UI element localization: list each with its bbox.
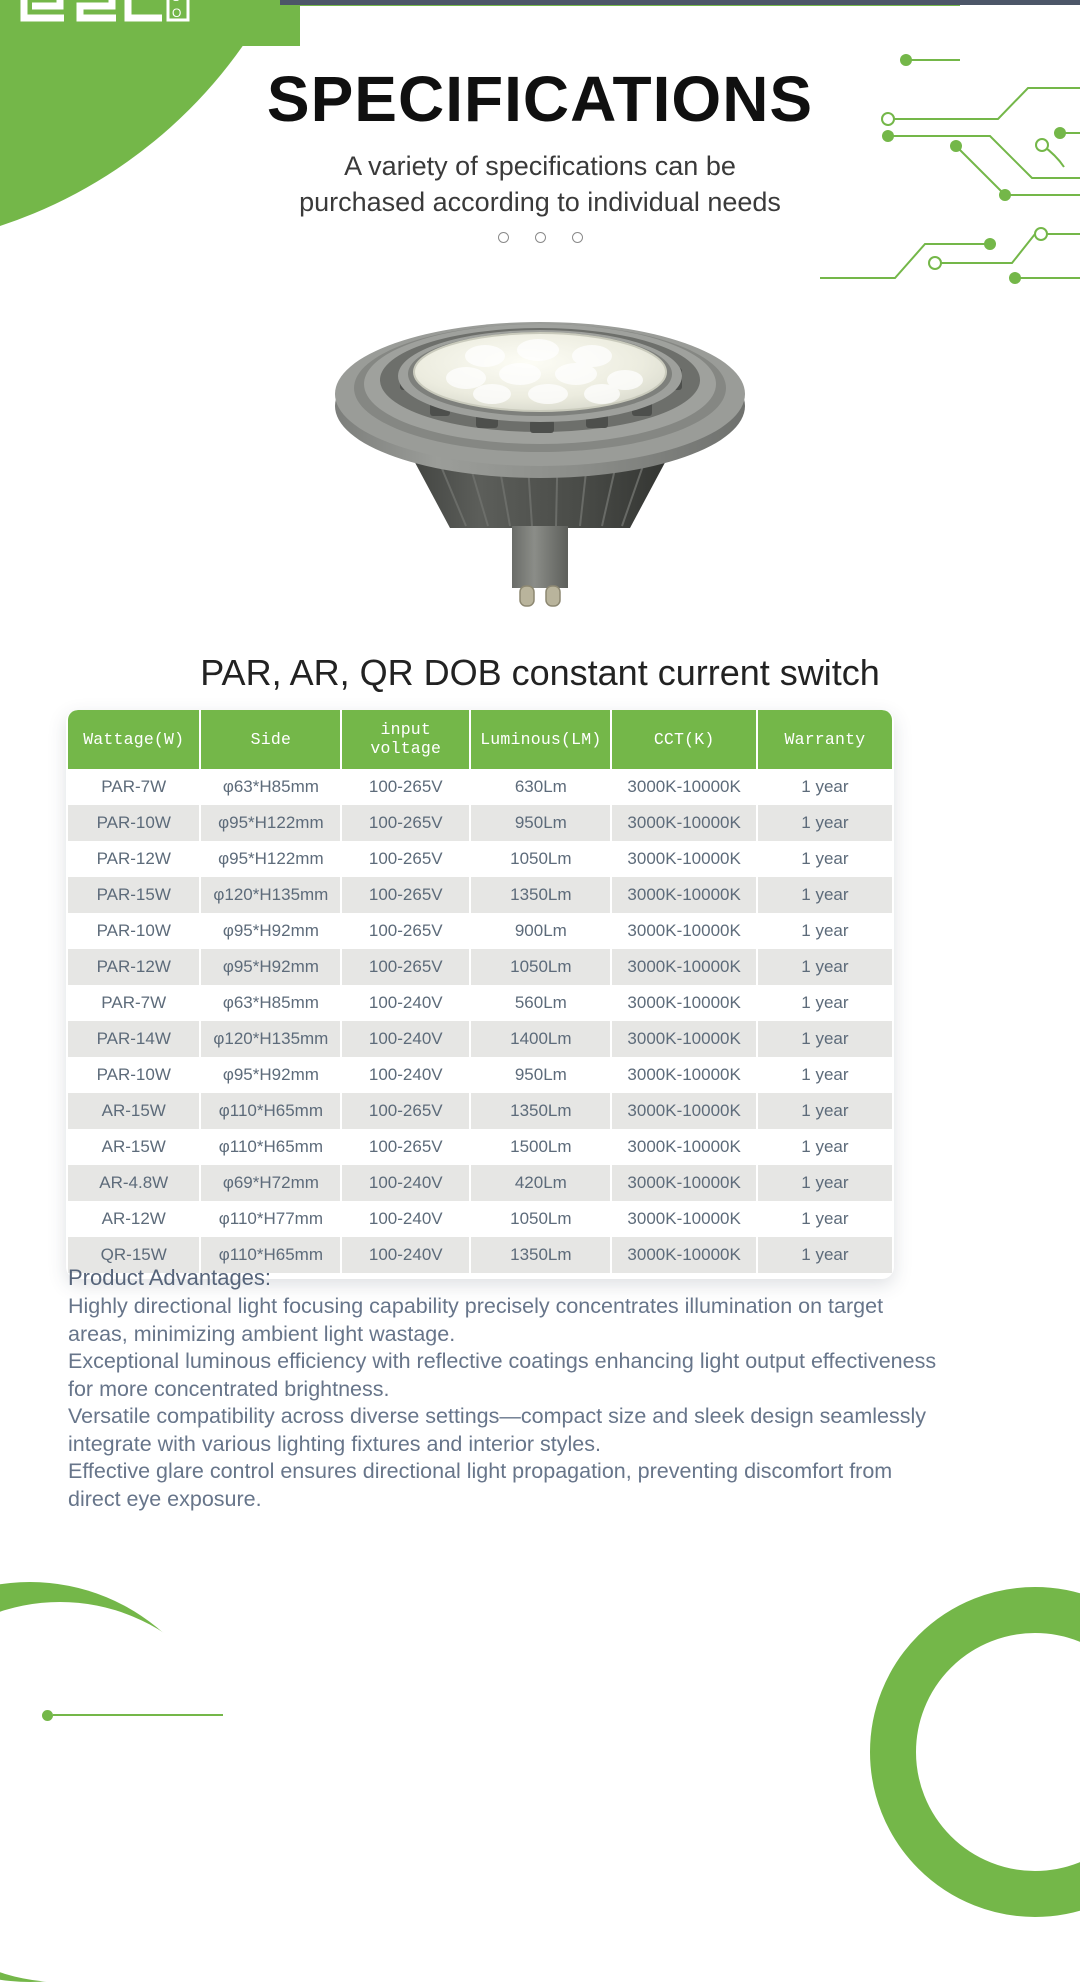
cell-warranty: 1 year (758, 877, 892, 913)
cell-warranty: 1 year (758, 985, 892, 1021)
cell-luminous: 630Lm (471, 769, 610, 805)
cell-luminous: 1350Lm (471, 1093, 610, 1129)
cell-side: φ120*H135mm (201, 877, 340, 913)
cell-luminous: 950Lm (471, 1057, 610, 1093)
cell-warranty: 1 year (758, 1093, 892, 1129)
cell-input-voltage: 100-265V (342, 1129, 469, 1165)
cell-side: φ95*H122mm (201, 841, 340, 877)
cell-wattage: PAR-7W (68, 985, 199, 1021)
table-row: PAR-7Wφ63*H85mm100-265V630Lm3000K-10000K… (68, 769, 892, 805)
cell-side: φ110*H65mm (201, 1093, 340, 1129)
svg-text:O: O (172, 6, 181, 20)
cell-side: φ120*H135mm (201, 1021, 340, 1057)
cell-luminous: 420Lm (471, 1165, 610, 1201)
cell-input-voltage: 100-240V (342, 1021, 469, 1057)
brand-logo: S O OEM FACTORY (16, 0, 286, 34)
divider-dot-3 (572, 232, 583, 243)
column-header-warranty: Warranty (758, 710, 892, 769)
cell-input-voltage: 100-265V (342, 913, 469, 949)
product-image-container (0, 290, 1080, 640)
column-header-cct: CCT(K) (612, 710, 755, 769)
cell-luminous: 560Lm (471, 985, 610, 1021)
page-title: SPECIFICATIONS (0, 62, 1080, 136)
cell-wattage: PAR-7W (68, 769, 199, 805)
cell-cct: 3000K-10000K (612, 1129, 755, 1165)
cell-side: φ69*H72mm (201, 1165, 340, 1201)
product-line-title: PAR, AR, QR DOB constant current switch (0, 652, 1080, 694)
dark-top-bar (280, 0, 1080, 5)
cell-luminous: 900Lm (471, 913, 610, 949)
logo-mark-icon: S O (16, 0, 286, 34)
cell-wattage: AR-15W (68, 1129, 199, 1165)
cell-warranty: 1 year (758, 805, 892, 841)
cell-cct: 3000K-10000K (612, 841, 755, 877)
cell-side: φ95*H92mm (201, 949, 340, 985)
cell-warranty: 1 year (758, 1201, 892, 1237)
subtitle-line-1: A variety of specifications can be (0, 148, 1080, 184)
table-row: PAR-7Wφ63*H85mm100-240V560Lm3000K-10000K… (68, 985, 892, 1021)
cell-cct: 3000K-10000K (612, 1201, 755, 1237)
cell-input-voltage: 100-265V (342, 1093, 469, 1129)
cell-side: φ63*H85mm (201, 985, 340, 1021)
cell-side: φ110*H77mm (201, 1201, 340, 1237)
cell-luminous: 1350Lm (471, 877, 610, 913)
column-header-input-voltage: input voltage (342, 710, 469, 769)
cell-wattage: PAR-12W (68, 841, 199, 877)
cell-warranty: 1 year (758, 1165, 892, 1201)
divider-dot-1 (498, 232, 509, 243)
column-header-wattage: Wattage(W) (68, 710, 199, 769)
table-header: Wattage(W) Side input voltage Luminous(L… (68, 710, 892, 769)
cell-wattage: PAR-15W (68, 877, 199, 913)
table-row: AR-15Wφ110*H65mm100-265V1500Lm3000K-1000… (68, 1129, 892, 1165)
cell-wattage: PAR-10W (68, 913, 199, 949)
cell-wattage: AR-4.8W (68, 1165, 199, 1201)
advantage-paragraph-4: Effective glare control ensures directio… (68, 1458, 948, 1513)
column-header-side: Side (201, 710, 340, 769)
advantage-paragraph-3: Versatile compatibility across diverse s… (68, 1403, 948, 1458)
cell-cct: 3000K-10000K (612, 805, 755, 841)
table-row: AR-4.8Wφ69*H72mm100-240V420Lm3000K-10000… (68, 1165, 892, 1201)
cell-warranty: 1 year (758, 841, 892, 877)
table-row: PAR-10Wφ95*H92mm100-240V950Lm3000K-10000… (68, 1057, 892, 1093)
cell-wattage: PAR-12W (68, 949, 199, 985)
cell-wattage: AR-15W (68, 1093, 199, 1129)
cell-cct: 3000K-10000K (612, 769, 755, 805)
cell-wattage: PAR-14W (68, 1021, 199, 1057)
cell-luminous: 1500Lm (471, 1129, 610, 1165)
led-par-lamp-photo (280, 290, 800, 630)
advantage-paragraph-2: Exceptional luminous efficiency with ref… (68, 1348, 948, 1403)
bottom-green-dot (42, 1710, 53, 1721)
cell-input-voltage: 100-265V (342, 805, 469, 841)
cell-warranty: 1 year (758, 1057, 892, 1093)
cell-cct: 3000K-10000K (612, 985, 755, 1021)
table-row: PAR-12Wφ95*H122mm100-265V1050Lm3000K-100… (68, 841, 892, 877)
cell-side: φ95*H122mm (201, 805, 340, 841)
cell-input-voltage: 100-240V (342, 985, 469, 1021)
cell-wattage: PAR-10W (68, 805, 199, 841)
advantages-title: Product Advantages: (68, 1265, 948, 1291)
cell-luminous: 1050Lm (471, 1201, 610, 1237)
table-row: PAR-15Wφ120*H135mm100-265V1350Lm3000K-10… (68, 877, 892, 913)
bottom-right-green-ring (870, 1587, 1080, 1917)
advantage-paragraph-1: Highly directional light focusing capabi… (68, 1293, 948, 1348)
cell-warranty: 1 year (758, 769, 892, 805)
cell-input-voltage: 100-265V (342, 841, 469, 877)
cell-luminous: 1050Lm (471, 841, 610, 877)
cell-cct: 3000K-10000K (612, 1057, 755, 1093)
cell-cct: 3000K-10000K (612, 877, 755, 913)
cell-cct: 3000K-10000K (612, 949, 755, 985)
cell-warranty: 1 year (758, 949, 892, 985)
divider-dots (0, 232, 1080, 243)
cell-warranty: 1 year (758, 913, 892, 949)
cell-side: φ110*H65mm (201, 1129, 340, 1165)
cell-input-voltage: 100-265V (342, 769, 469, 805)
cell-side: φ95*H92mm (201, 913, 340, 949)
product-advantages-section: Product Advantages: Highly directional l… (68, 1265, 948, 1513)
cell-cct: 3000K-10000K (612, 1093, 755, 1129)
cell-input-voltage: 100-265V (342, 949, 469, 985)
cell-luminous: 950Lm (471, 805, 610, 841)
table-row: PAR-12Wφ95*H92mm100-265V1050Lm3000K-1000… (68, 949, 892, 985)
cell-side: φ95*H92mm (201, 1057, 340, 1093)
bottom-green-line (53, 1714, 223, 1716)
cell-input-voltage: 100-265V (342, 877, 469, 913)
cell-warranty: 1 year (758, 1129, 892, 1165)
table-row: PAR-10Wφ95*H92mm100-265V900Lm3000K-10000… (68, 913, 892, 949)
table-row: PAR-14Wφ120*H135mm100-240V1400Lm3000K-10… (68, 1021, 892, 1057)
subtitle-line-2: purchased according to individual needs (0, 184, 1080, 220)
table-header-row: Wattage(W) Side input voltage Luminous(L… (68, 710, 892, 769)
divider-dot-2 (535, 232, 546, 243)
cell-input-voltage: 100-240V (342, 1165, 469, 1201)
table-row: AR-12Wφ110*H77mm100-240V1050Lm3000K-1000… (68, 1201, 892, 1237)
table-body: PAR-7Wφ63*H85mm100-265V630Lm3000K-10000K… (68, 769, 892, 1273)
cell-luminous: 1050Lm (471, 949, 610, 985)
cell-luminous: 1400Lm (471, 1021, 610, 1057)
page-subtitle: A variety of specifications can be purch… (0, 148, 1080, 220)
specifications-table: Wattage(W) Side input voltage Luminous(L… (66, 710, 894, 1273)
table-row: AR-15Wφ110*H65mm100-265V1350Lm3000K-1000… (68, 1093, 892, 1129)
specifications-table-card: Wattage(W) Side input voltage Luminous(L… (66, 710, 894, 1279)
cell-wattage: PAR-10W (68, 1057, 199, 1093)
cell-cct: 3000K-10000K (612, 1021, 755, 1057)
cell-side: φ63*H85mm (201, 769, 340, 805)
cell-input-voltage: 100-240V (342, 1057, 469, 1093)
cell-input-voltage: 100-240V (342, 1201, 469, 1237)
bottom-left-mask (0, 1602, 250, 1982)
cell-wattage: AR-12W (68, 1201, 199, 1237)
table-row: PAR-10Wφ95*H122mm100-265V950Lm3000K-1000… (68, 805, 892, 841)
cell-cct: 3000K-10000K (612, 913, 755, 949)
cell-warranty: 1 year (758, 1021, 892, 1057)
cell-cct: 3000K-10000K (612, 1165, 755, 1201)
column-header-luminous: Luminous(LM) (471, 710, 610, 769)
